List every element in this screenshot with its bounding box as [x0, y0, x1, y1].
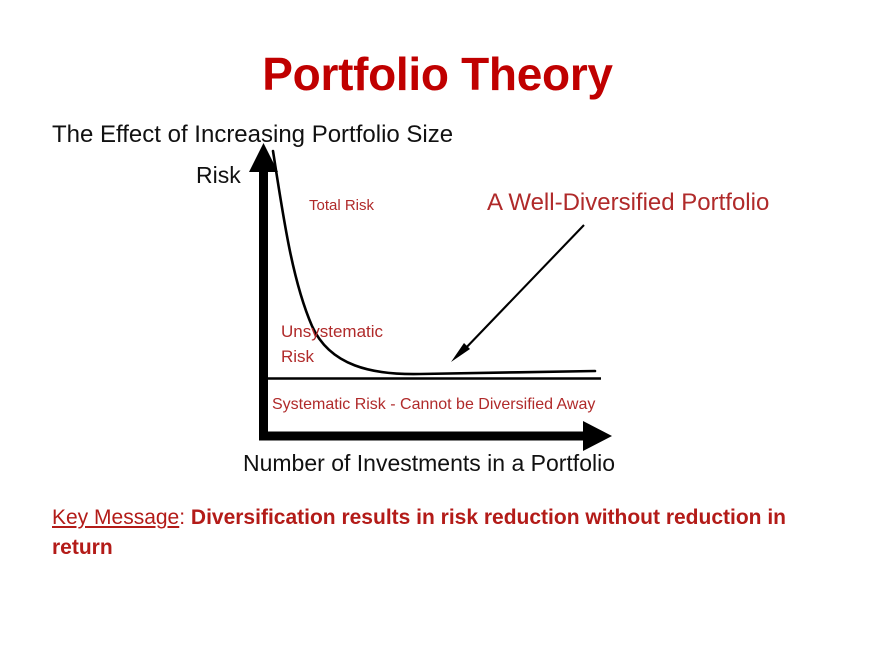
key-message: Key Message: Diversification results in …	[52, 503, 812, 563]
label-well-diversified-portfolio: A Well-Diversified Portfolio	[487, 189, 769, 217]
slide-subtitle: The Effect of Increasing Portfolio Size	[52, 121, 453, 149]
label-systematic-risk: Systematic Risk - Cannot be Diversified …	[272, 396, 595, 414]
slide-canvas: Portfolio Theory The Effect of Increasin…	[0, 0, 875, 656]
x-axis	[259, 421, 612, 451]
key-message-lead: Key Message	[52, 506, 179, 529]
label-unsystematic-risk: Unsystematic Risk	[281, 320, 383, 369]
x-axis-label: Number of Investments in a Portfolio	[243, 450, 615, 477]
label-unsystematic-risk-line2: Risk	[281, 345, 383, 370]
label-unsystematic-risk-line1: Unsystematic	[281, 320, 383, 345]
y-axis-label: Risk	[196, 162, 241, 189]
well-diversified-pointer-arrow	[451, 225, 584, 362]
key-message-colon: :	[179, 506, 191, 529]
page-title: Portfolio Theory	[0, 50, 875, 98]
label-total-risk: Total Risk	[309, 197, 374, 214]
